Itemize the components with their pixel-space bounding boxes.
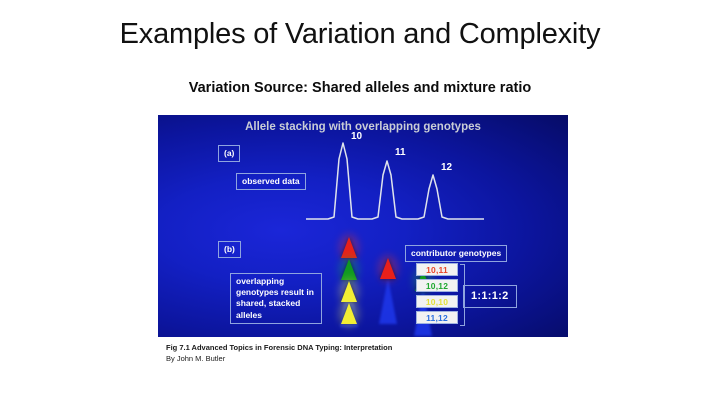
figure-caption: Fig 7.1 Advanced Topics in Forensic DNA … <box>166 343 586 365</box>
overlapping-genotypes-note: overlapping genotypes result in shared, … <box>230 273 322 324</box>
observed-data-label: observed data <box>236 173 306 190</box>
slide-title: Examples of Variation and Complexity <box>0 18 720 51</box>
peak-label-12: 12 <box>441 162 452 173</box>
allele-column-11 <box>377 258 399 280</box>
panel-b-tag: (b) <box>218 241 241 258</box>
contributor-genotypes-label: contributor genotypes <box>405 245 507 262</box>
allele-triangle-red-col2 <box>377 258 399 280</box>
genotype-chip-3: 10,10 <box>416 295 458 308</box>
allele-tail-11 <box>379 278 397 324</box>
genotype-chip-2: 10,12 <box>416 279 458 292</box>
figure-heading: Allele stacking with overlapping genotyp… <box>158 121 568 133</box>
panel-a-tag: (a) <box>218 145 240 162</box>
caption-source-line: Fig 7.1 Advanced Topics in Forensic DNA … <box>166 343 586 354</box>
genotype-stack: 10,11 10,12 10,10 11,12 <box>416 263 458 327</box>
caption-author-line: By John M. Butler <box>166 354 586 365</box>
genotype-chip-4: 11,12 <box>416 311 458 324</box>
allele-triangle-yellow-2 <box>338 303 360 325</box>
figure-panel: Allele stacking with overlapping genotyp… <box>158 115 568 337</box>
slide-subtitle: Variation Source: Shared alleles and mix… <box>0 80 720 96</box>
peak-label-11: 11 <box>395 147 406 158</box>
genotype-chip-1: 10,11 <box>416 263 458 276</box>
mixture-ratio-box: 1:1:1:2 <box>463 285 517 308</box>
allele-column-10 <box>338 237 360 325</box>
peak-label-10: 10 <box>351 131 362 142</box>
